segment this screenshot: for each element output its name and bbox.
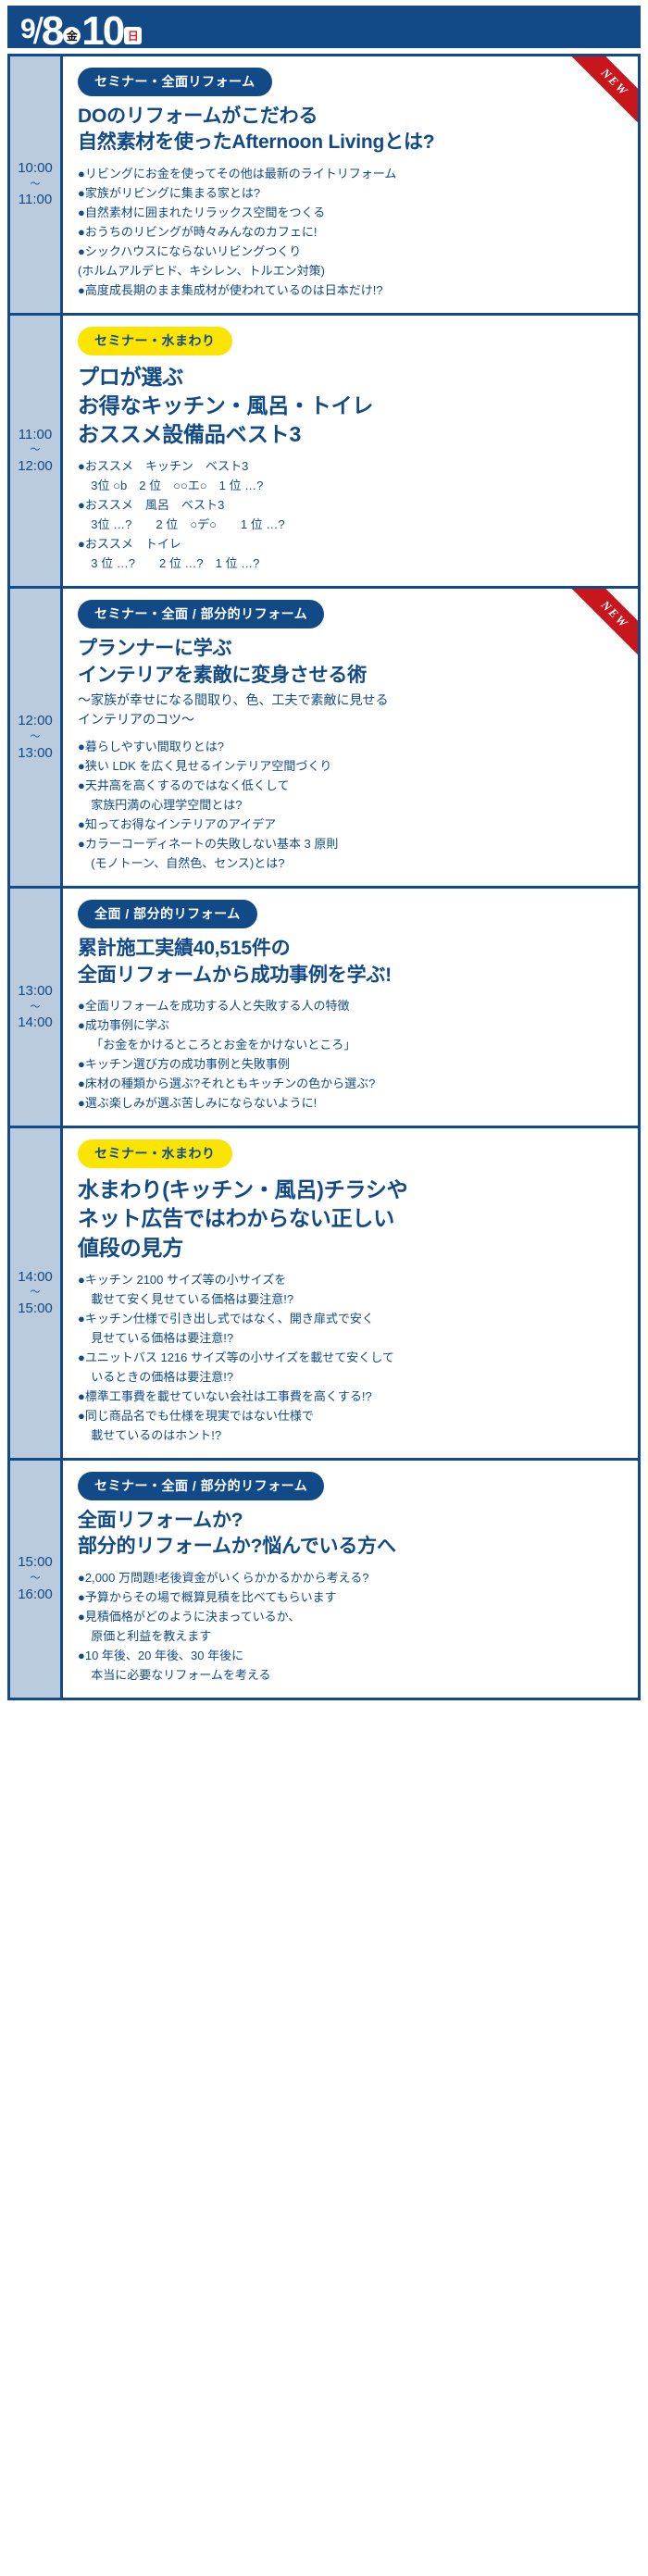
time-range-tilde: 〜 (31, 444, 41, 457)
header-day-second: 10 (81, 11, 123, 48)
seminar-bullet-item: (ホルムアルデヒド、キシレン、トルエン対策) (78, 261, 625, 280)
seminar-bullet-item: ●見積価格がどのように決まっているか、 (78, 1607, 625, 1626)
seminar-bullet-list: ●2,000 万問題!老後資金がいくらかかるかから考える?●予算からその場で概算… (78, 1568, 625, 1685)
seminar-bullet-item: 3 位 …? 2 位 …? 1 位 …? (78, 554, 625, 573)
time-end: 12:00 (18, 458, 53, 476)
schedule-row: 14:00〜15:00セミナー・水まわり水まわり(キッチン・風呂)チラシやネット… (7, 1128, 641, 1461)
schedule-row: 10:00〜11:00NEWセミナー・全面リフォームDOのリフォームがこだわる自… (7, 54, 641, 316)
time-start: 13:00 (18, 983, 53, 1001)
seminar-bullet-item: ●同じ商品名でも仕様を現実ではない仕様で (78, 1406, 625, 1425)
seminar-bullet-item: 見せている価格は要注意!? (78, 1328, 625, 1348)
category-badge[interactable]: セミナー・全面リフォーム (78, 68, 272, 96)
seminar-bullet-item: 原価と利益を教えます (78, 1626, 625, 1646)
schedule-row: 11:00〜12:00セミナー・水まわりプロが選ぶお得なキッチン・風呂・トイレお… (7, 316, 641, 589)
seminar-title-line: プロが選ぶ (78, 363, 625, 392)
time-start: 12:00 (18, 713, 53, 730)
seminar-bullet-item: 「お金をかけるところとお金をかけないところ」 (78, 1035, 625, 1054)
seminar-bullet-list: ●リビングにお金を使ってその他は最新のライトリフォーム●家族がリビングに集まる家… (78, 164, 625, 300)
schedule-row: 12:00〜13:00NEWセミナー・全面 / 部分的リフォームプランナーに学ぶ… (7, 589, 641, 889)
seminar-title: 全面リフォームか?部分的リフォームか?悩んでいる方へ (78, 1508, 625, 1561)
time-end: 11:00 (19, 192, 52, 209)
seminar-bullet-item: ●おススメ 風呂 ベスト3 (78, 495, 625, 515)
seminar-bullet-item: ●家族がリビングに集まる家とは? (78, 183, 625, 203)
seminar-title-line: 全面リフォームか? (78, 1508, 625, 1534)
time-start: 14:00 (18, 1269, 53, 1287)
seminar-bullet-list: ●暮らしやすい間取りとは?●狭い LDK を広く見せるインテリア空間づくり●天井… (78, 737, 625, 873)
seminar-bullet-item: 3位 ○b 2 位 ○○エ○ 1 位 …? (78, 476, 625, 495)
seminar-bullet-item: ●おススメ キッチン ベスト3 (78, 456, 625, 476)
time-slot-cell: 15:00〜16:00 (7, 1461, 63, 1698)
seminar-bullet-item: ●ユニットバス 1216 サイズ等の小サイズを載せて安くして (78, 1348, 625, 1367)
seminar-title: プロが選ぶお得なキッチン・風呂・トイレおススメ設備品ベスト3 (78, 363, 625, 449)
seminar-title-line: 自然素材を使ったAfternoon Livingとは? (78, 130, 625, 156)
seminar-title-line: ネット広告ではわからない正しい (78, 1204, 625, 1233)
seminar-bullet-item: ●狭い LDK を広く見せるインテリア空間づくり (78, 756, 625, 776)
seminar-bullet-list: ●おススメ キッチン ベスト33位 ○b 2 位 ○○エ○ 1 位 …?●おスス… (78, 456, 625, 573)
seminar-schedule-page: 9 / 8 金 10 日 10:00〜11:00NEWセミナー・全面リフォームD… (0, 0, 648, 2576)
seminar-title: 累計施工実績40,515件の全面リフォームから成功事例を学ぶ! (78, 936, 625, 989)
seminar-bullet-item: ●全面リフォームを成功する人と失敗する人の特徴 (78, 996, 625, 1015)
category-badge[interactable]: セミナー・水まわり (78, 1139, 232, 1168)
time-end: 14:00 (18, 1014, 53, 1032)
category-badge[interactable]: セミナー・全面 / 部分的リフォーム (78, 600, 324, 628)
seminar-title-line: 水まわり(キッチン・風呂)チラシや (78, 1176, 625, 1204)
date-header-inner: 9 / 8 金 10 日 (7, 6, 641, 48)
seminar-bullet-item: ●カラーコーディネートの失敗しない基本 3 原則 (78, 834, 625, 853)
schedule-row: 15:00〜16:00セミナー・全面 / 部分的リフォーム全面リフォームか?部分… (7, 1461, 641, 1700)
seminar-subtitle: 〜家族が幸せになる間取り、色、工夫で素敵に見せるインテリアのコツ〜 (78, 691, 625, 729)
seminar-bullet-item: ●選ぶ楽しみが選ぶ苦しみにならないように! (78, 1093, 625, 1113)
seminar-title-line: 値段の見方 (78, 1234, 625, 1263)
seminar-title: DOのリフォームがこだわる自然素材を使ったAfternoon Livingとは? (78, 104, 625, 156)
seminar-bullet-item: ●キッチン選び方の成功事例と失敗事例 (78, 1054, 625, 1074)
seminar-bullet-item: ●おススメ トイレ (78, 534, 625, 554)
time-range-tilde: 〜 (31, 1573, 41, 1586)
seminar-title-line: お得なキッチン・風呂・トイレ (78, 392, 625, 420)
seminar-bullet-item: ●知ってお得なインテリアのアイデア (78, 815, 625, 834)
seminar-bullet-item: ●成功事例に学ぶ (78, 1015, 625, 1035)
seminar-title: 水まわり(キッチン・風呂)チラシやネット広告ではわからない正しい値段の見方 (78, 1176, 625, 1262)
time-start: 15:00 (18, 1554, 53, 1572)
seminar-title-line: インテリアを素敵に変身させる術 (78, 663, 625, 689)
seminar-bullet-item: ●自然素材に囲まれたリラックス空間をつくる (78, 203, 625, 222)
time-slot-cell: 14:00〜15:00 (7, 1128, 63, 1458)
time-range-tilde: 〜 (31, 731, 41, 744)
seminar-subtitle-line: インテリアのコツ〜 (78, 710, 625, 729)
time-start: 10:00 (18, 160, 53, 178)
seminar-bullet-item: ●おうちのリビングが時々みんなのカフェに! (78, 222, 625, 242)
seminar-bullet-item: ●床材の種類から選ぶ?それともキッチンの色から選ぶ? (78, 1074, 625, 1093)
seminar-title-line: DOのリフォームがこだわる (78, 104, 625, 130)
seminar-bullet-item: ●天井高を高くするのではなく低くして (78, 776, 625, 795)
header-day-first: 8 (42, 11, 62, 48)
seminar-bullet-item: ●暮らしやすい間取りとは? (78, 737, 625, 756)
seminar-title: プランナーに学ぶインテリアを素敵に変身させる術 (78, 636, 625, 689)
seminar-title-line: 累計施工実績40,515件の (78, 936, 625, 962)
seminar-subtitle-line: 〜家族が幸せになる間取り、色、工夫で素敵に見せる (78, 691, 625, 710)
seminar-bullet-item: ●キッチン仕様で引き出し式ではなく、開き扉式で安く (78, 1309, 625, 1328)
seminar-bullet-item: ●リビングにお金を使ってその他は最新のライトリフォーム (78, 164, 625, 183)
seminar-bullet-item: ●標準工事費を載せていない会社は工事費を高くする!? (78, 1387, 625, 1406)
seminar-bullet-item: 3位 …? 2 位 ○デ○ 1 位 …? (78, 515, 625, 534)
seminar-title-line: 全面リフォームから成功事例を学ぶ! (78, 963, 625, 989)
day-of-week-badge-friday: 金 (63, 27, 81, 44)
time-slot-cell: 11:00〜12:00 (7, 316, 63, 586)
time-range-tilde: 〜 (31, 1002, 41, 1014)
seminar-bullet-item: ●10 年後、20 年後、30 年後に (78, 1646, 625, 1665)
category-badge[interactable]: 全面 / 部分的リフォーム (78, 900, 257, 928)
time-end: 13:00 (18, 745, 53, 763)
seminar-bullet-item: 載せて安く見せている価格は要注意!? (78, 1289, 625, 1309)
seminar-bullet-item: 本当に必要なリフォームを考える (78, 1665, 625, 1685)
seminar-content-cell: NEWセミナー・全面 / 部分的リフォームプランナーに学ぶインテリアを素敵に変身… (63, 589, 641, 886)
seminar-content-cell: 全面 / 部分的リフォーム累計施工実績40,515件の全面リフォームから成功事例… (63, 889, 641, 1126)
schedule-grid: 10:00〜11:00NEWセミナー・全面リフォームDOのリフォームがこだわる自… (7, 54, 641, 1700)
seminar-content-cell: セミナー・水まわり水まわり(キッチン・風呂)チラシやネット広告ではわからない正し… (63, 1128, 641, 1458)
seminar-content-cell: セミナー・全面 / 部分的リフォーム全面リフォームか?部分的リフォームか?悩んで… (63, 1461, 641, 1698)
seminar-bullet-item: (モノトーン、自然色、センス)とは? (78, 853, 625, 873)
seminar-bullet-item: ●キッチン 2100 サイズ等の小サイズを (78, 1270, 625, 1289)
seminar-bullet-item: ●予算からその場で概算見積を比べてもらいます (78, 1587, 625, 1607)
category-badge[interactable]: セミナー・全面 / 部分的リフォーム (78, 1472, 324, 1500)
category-badge[interactable]: セミナー・水まわり (78, 327, 232, 355)
seminar-title-line: 部分的リフォームか?悩んでいる方へ (78, 1534, 625, 1560)
time-range-tilde: 〜 (31, 179, 41, 192)
seminar-bullet-list: ●全面リフォームを成功する人と失敗する人の特徴●成功事例に学ぶ「お金をかけるとこ… (78, 996, 625, 1113)
time-slot-cell: 12:00〜13:00 (7, 589, 63, 886)
seminar-bullet-item: ●シックハウスにならないリビングつくり (78, 242, 625, 261)
schedule-row: 13:00〜14:00全面 / 部分的リフォーム累計施工実績40,515件の全面… (7, 889, 641, 1128)
time-end: 16:00 (18, 1587, 53, 1604)
seminar-content-cell: セミナー・水まわりプロが選ぶお得なキッチン・風呂・トイレおススメ設備品ベスト3●… (63, 316, 641, 586)
seminar-title-line: プランナーに学ぶ (78, 636, 625, 662)
seminar-title-line: おススメ設備品ベスト3 (78, 420, 625, 449)
time-start: 11:00 (19, 427, 52, 444)
seminar-bullet-item: 載せているのはホント!? (78, 1425, 625, 1445)
time-slot-cell: 10:00〜11:00 (7, 56, 63, 313)
seminar-bullet-item: いるときの価格は要注意!? (78, 1367, 625, 1387)
seminar-content-cell: NEWセミナー・全面リフォームDOのリフォームがこだわる自然素材を使ったAfte… (63, 56, 641, 313)
date-header: 9 / 8 金 10 日 (7, 6, 641, 48)
time-range-tilde: 〜 (31, 1287, 41, 1300)
seminar-bullet-item: ●2,000 万問題!老後資金がいくらかかるかから考える? (78, 1568, 625, 1587)
time-end: 15:00 (18, 1300, 53, 1318)
seminar-bullet-item: 家族円満の心理学空間とは? (78, 795, 625, 815)
seminar-bullet-list: ●キッチン 2100 サイズ等の小サイズを載せて安く見せている価格は要注意!?●… (78, 1270, 625, 1445)
day-of-week-badge-sunday: 日 (124, 27, 142, 44)
seminar-bullet-item: ●高度成長期のまま集成材が使われているのは日本だけ!? (78, 280, 625, 300)
time-slot-cell: 13:00〜14:00 (7, 889, 63, 1126)
